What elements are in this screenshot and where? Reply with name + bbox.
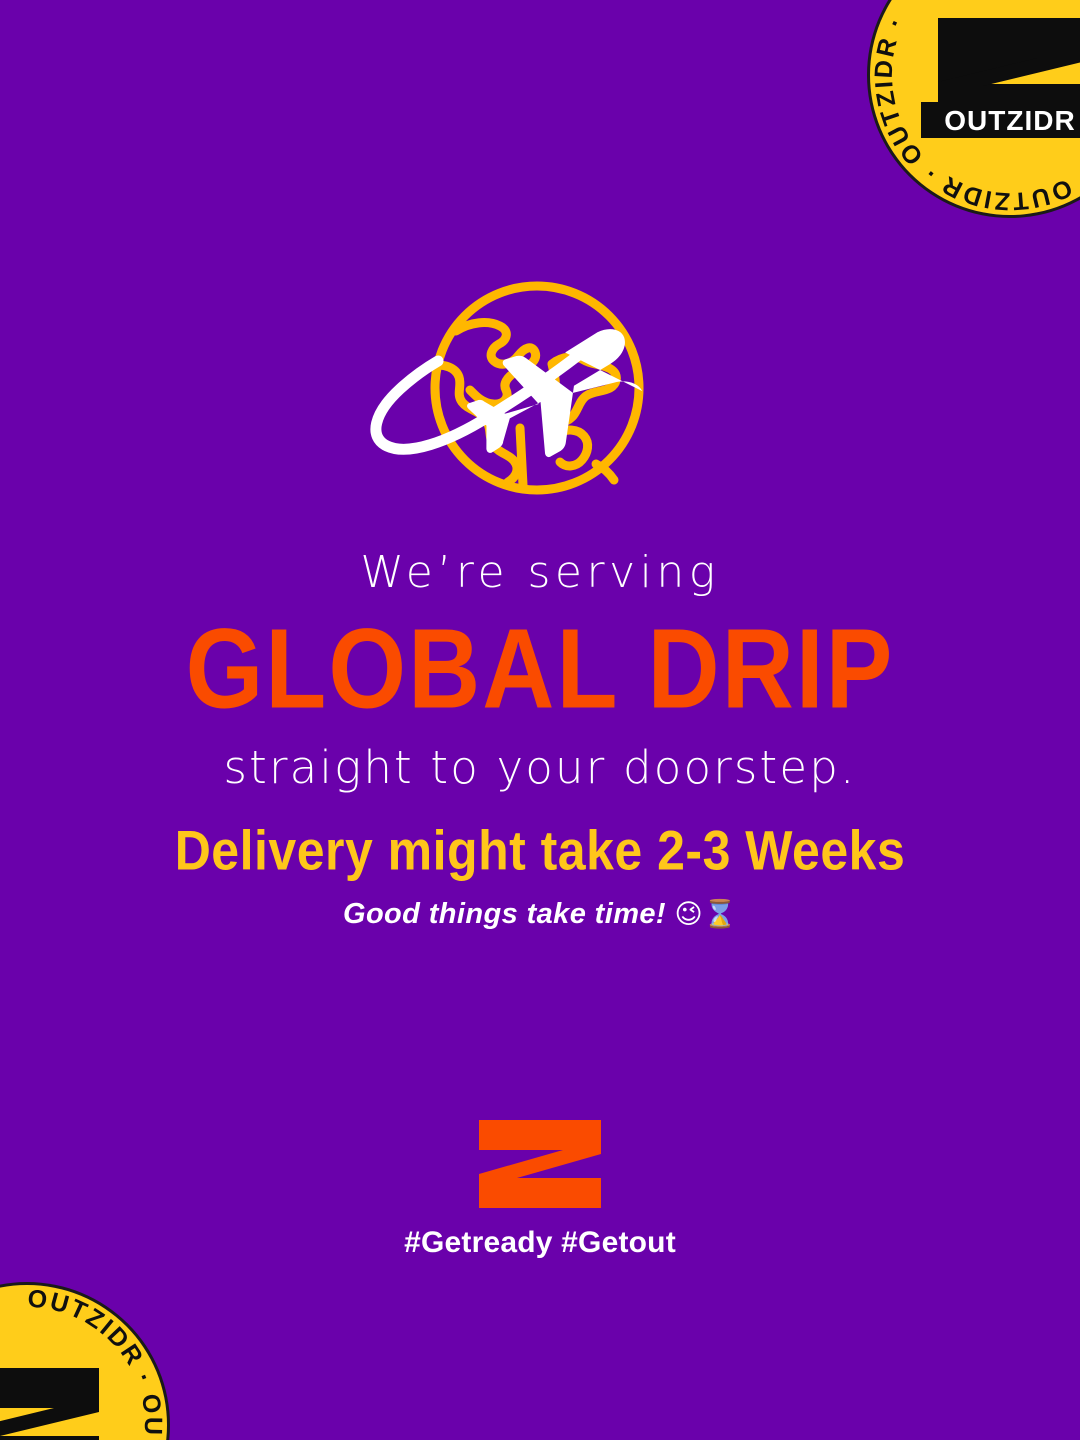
outzidr-z-logo <box>477 1118 603 1210</box>
delivery-tagline-text: Good things take time! <box>343 898 674 930</box>
kicker-text: We’re serving <box>0 548 1080 597</box>
subline-text: straight to your doorstep. <box>0 743 1080 793</box>
delivery-notice-block: Delivery might take 2-3 Weeks Good thing… <box>0 820 1080 932</box>
delivery-tagline: Good things take time! 😉⌛ <box>0 897 1080 932</box>
outzidr-badge-top-right: OUTZIDR · OUTZIDR · OUTZIDR · OUTZIDR · … <box>865 0 1080 220</box>
footer-brand-block: #Getready #Getout <box>0 1118 1080 1260</box>
badge-z-icon <box>938 18 1080 126</box>
badge-ring-text: OUTZIDR · OUTZIDR · OUTZIDR · OUTZIDR · <box>0 1285 167 1440</box>
page-title: GLOBAL DRIP <box>0 613 1080 726</box>
main-copy-block: We’re serving GLOBAL DRIP straight to yo… <box>0 548 1080 793</box>
delivery-time-text: Delivery might take 2-3 Weeks <box>0 820 1080 882</box>
outzidr-badge-bottom-left: OUTZIDR · OUTZIDR · OUTZIDR · OUTZIDR · … <box>0 1280 172 1440</box>
wink-hourglass-emoji: 😉⌛ <box>674 899 737 930</box>
badge-ring-text: OUTZIDR · OUTZIDR · OUTZIDR · OUTZIDR · <box>870 0 1080 215</box>
badge-banner-text: OUTZIDR <box>944 105 1075 136</box>
badge-z-icon <box>0 1368 99 1440</box>
hashtags-text: #Getready #Getout <box>0 1226 1080 1260</box>
badge-banner: OUTZIDR <box>921 102 1080 138</box>
globe-with-airplane-icon <box>360 278 720 513</box>
poster-canvas: OUTZIDR · OUTZIDR · OUTZIDR · OUTZIDR · … <box>0 0 1080 1440</box>
